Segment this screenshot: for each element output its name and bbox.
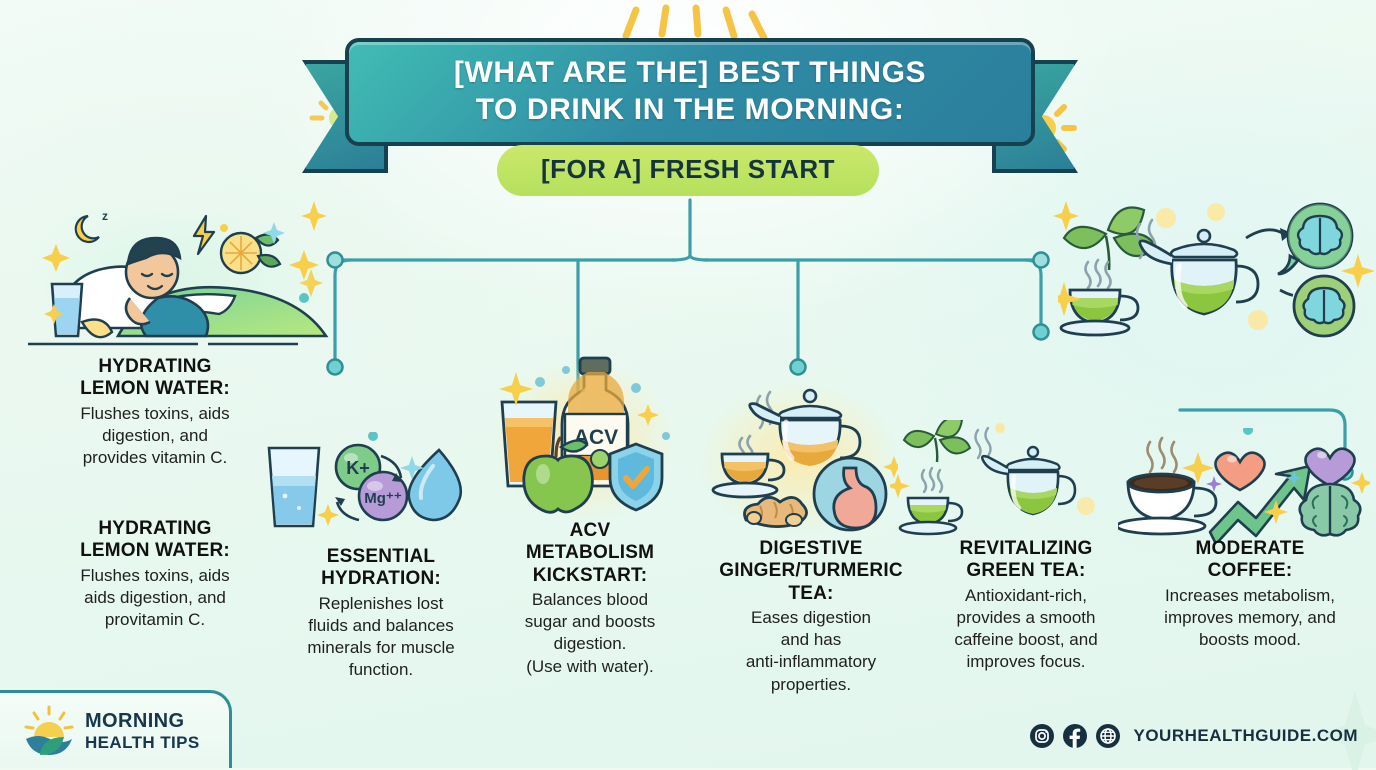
card-title: HYDRATING LEMON WATER:: [30, 356, 280, 401]
card-title: ESSENTIAL HYDRATION:: [272, 546, 490, 591]
coffee-cup-heart-arrow-brain-illustration: [1118, 428, 1370, 543]
card-title: HYDRATING LEMON WATER:: [30, 518, 280, 563]
page-title-line-1: [WHAT ARE THE] BEST THINGS: [454, 55, 926, 92]
card-ginger-turmeric-tea: DIGESTIVE GINGER/TURMERIC TEA: Eases dig…: [700, 538, 922, 696]
globe-icon[interactable]: [1096, 724, 1120, 748]
card-title: REVITALIZING GREEN TEA:: [920, 538, 1132, 583]
brand-footer-badge: MORNING HEALTH TIPS: [0, 690, 232, 768]
potassium-bubble-label: K+: [346, 458, 370, 478]
sunrise-leaf-logo-icon: [22, 705, 76, 757]
card-description: Eases digestion and has anti-inflammator…: [700, 607, 922, 695]
green-tea-cup-teapot-illustration: [890, 420, 1100, 538]
card-acv-metabolism: ACV METABOLISM KICKSTART: Balances blood…: [492, 520, 688, 678]
sun-rays-top-decor: [600, 2, 780, 42]
card-green-tea: REVITALIZING GREEN TEA: Antioxidant-rich…: [920, 538, 1132, 673]
facebook-icon[interactable]: [1063, 724, 1087, 748]
card-description: Increases metabolism, improves memory, a…: [1136, 585, 1364, 651]
card-lemon-water-repeat: HYDRATING LEMON WATER: Flushes toxins, a…: [30, 518, 280, 631]
sleeping-person-lemon-water-illustration: z: [18, 198, 338, 353]
card-moderate-coffee: MODERATE COFFEE: Increases metabolism, i…: [1136, 538, 1364, 651]
card-description: Antioxidant-rich, provides a smooth caff…: [920, 585, 1132, 673]
page-subtitle-pill: [FOR A] FRESH START: [497, 145, 879, 196]
card-description: Replenishes lost fluids and balances min…: [272, 593, 490, 681]
svg-text:z: z: [102, 209, 108, 223]
card-title: ACV METABOLISM KICKSTART:: [492, 520, 688, 587]
green-tea-brain-focus-illustration: [1058, 196, 1376, 346]
card-description: Flushes toxins, aids digestion, and prov…: [30, 403, 280, 469]
instagram-icon[interactable]: [1030, 724, 1054, 748]
social-links-row: YOURHEALTHGUIDE.COM: [1030, 724, 1358, 748]
water-glass-minerals-droplet-illustration: K+ Mg⁺⁺: [255, 432, 465, 537]
infographic-canvas: [WHAT ARE THE] BEST THINGS TO DRINK IN T…: [0, 0, 1376, 768]
card-title: DIGESTIVE GINGER/TURMERIC TEA:: [700, 538, 922, 605]
magnesium-bubble-label: Mg⁺⁺: [364, 490, 402, 507]
brand-line-2: HEALTH TIPS: [85, 734, 200, 751]
card-title: MODERATE COFFEE:: [1136, 538, 1364, 583]
teapot-ginger-stomach-illustration: [698, 378, 898, 536]
header-ribbon-panel: [WHAT ARE THE] BEST THINGS TO DRINK IN T…: [345, 38, 1035, 146]
acv-bottle-apple-shield-illustration: ACV: [488, 352, 678, 520]
website-url[interactable]: YOURHEALTHGUIDE.COM: [1133, 726, 1358, 746]
card-essential-hydration: ESSENTIAL HYDRATION: Replenishes lost fl…: [272, 546, 490, 681]
card-description: Flushes toxins, aids aids digestion, and…: [30, 565, 280, 631]
brand-name: MORNING HEALTH TIPS: [85, 711, 200, 751]
card-lemon-water-top: HYDRATING LEMON WATER: Flushes toxins, a…: [30, 356, 280, 469]
card-description: Balances blood sugar and boosts digestio…: [492, 589, 688, 677]
brand-line-1: MORNING: [85, 711, 200, 731]
page-title-line-2: TO DRINK IN THE MORNING:: [476, 92, 905, 129]
